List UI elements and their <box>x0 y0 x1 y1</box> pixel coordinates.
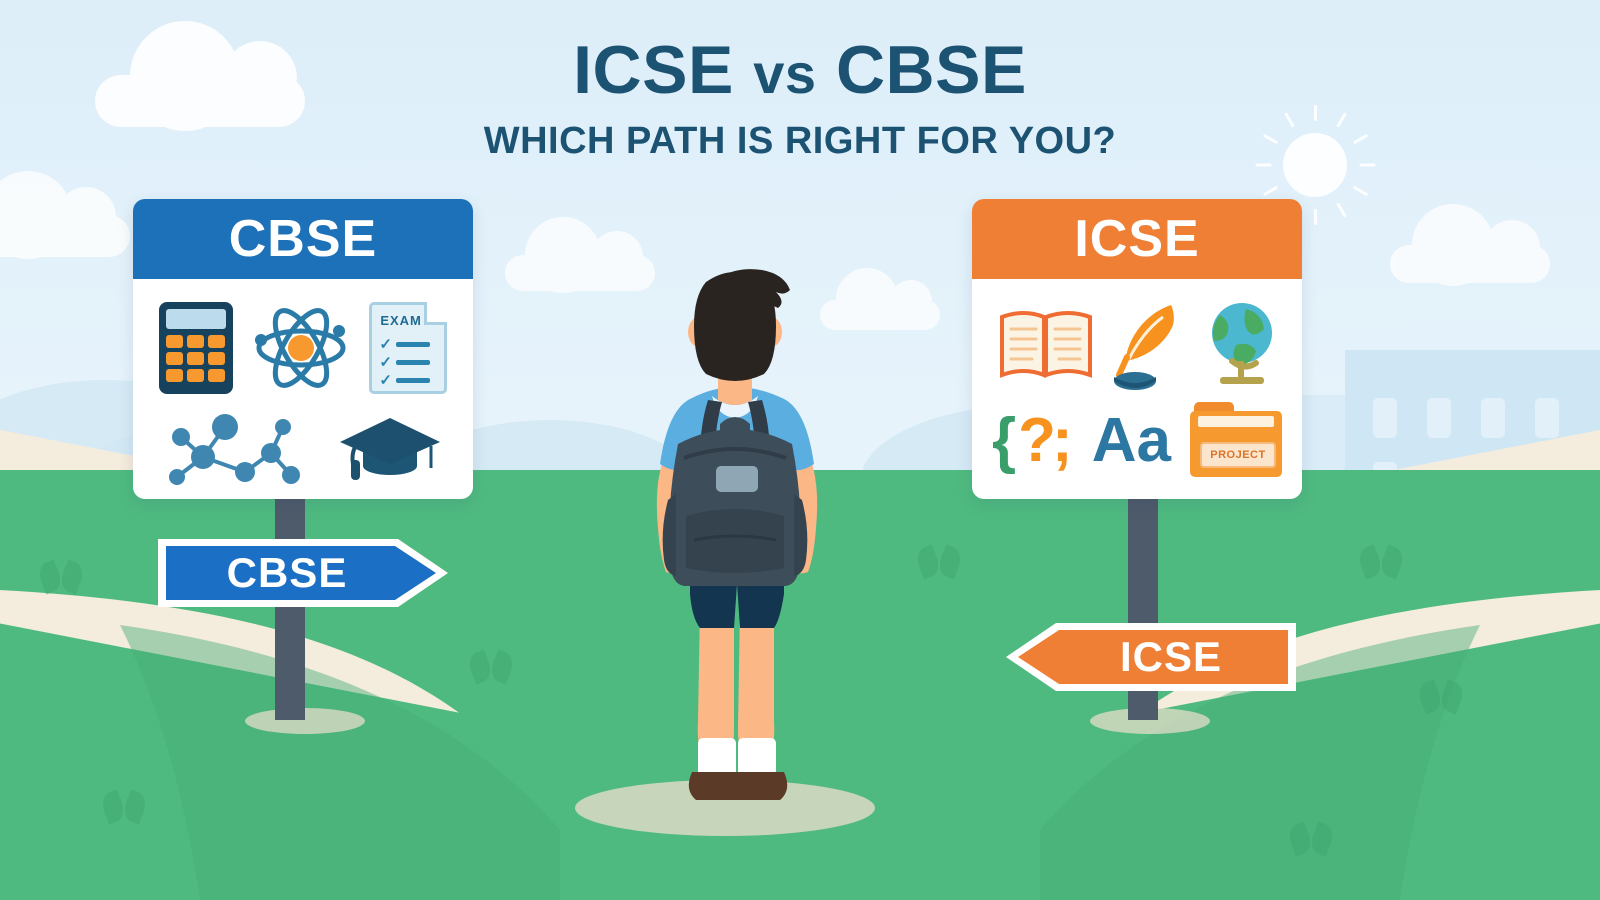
icse-board-title: ICSE <box>1074 213 1199 265</box>
globe-icon <box>1202 299 1276 391</box>
grass-sprout <box>470 650 516 684</box>
quill-inkwell-icon <box>1113 299 1183 391</box>
page-subtitle: WHICH PATH IS RIGHT FOR YOU? <box>0 122 1600 160</box>
cbse-board-icons: EXAM ✓ ✓ ✓ <box>133 279 473 499</box>
typography-aa-icon: Aa <box>1092 410 1171 472</box>
calculator-icon <box>159 302 233 394</box>
open-book-icon <box>998 307 1094 383</box>
cbse-post-shadow <box>245 708 365 734</box>
icse-board-icons: { ? ; Aa PROJECT <box>972 279 1302 499</box>
title-icse: ICSE <box>573 32 734 108</box>
grass-sprout <box>40 560 86 594</box>
graduation-cap-icon <box>335 410 445 488</box>
icse-arrow-label: ICSE <box>1120 633 1222 681</box>
title-vs: vs <box>753 42 816 105</box>
grass-sprout <box>1420 680 1466 714</box>
cbse-info-board[interactable]: CBSE <box>133 199 473 499</box>
exam-paper-label: EXAM <box>380 313 422 328</box>
page-title: ICSE vs CBSE <box>0 36 1600 104</box>
title-block: ICSE vs CBSE WHICH PATH IS RIGHT FOR YOU… <box>0 36 1600 160</box>
exam-paper-icon: EXAM ✓ ✓ ✓ <box>369 302 447 394</box>
grass-sprout <box>1360 545 1406 579</box>
cloud-5 <box>1390 245 1550 283</box>
cbse-board-header: CBSE <box>133 199 473 279</box>
brace-glyph: { <box>992 410 1016 472</box>
cbse-arrow-label: CBSE <box>227 549 348 597</box>
grass-sprout <box>1290 822 1336 856</box>
atom-icon <box>252 302 350 394</box>
project-folder-label: PROJECT <box>1210 449 1265 461</box>
grass-sprout <box>103 790 149 824</box>
semicolon-glyph: ; <box>1052 410 1073 472</box>
question-glyph: ? <box>1018 410 1056 472</box>
network-graph-icon <box>161 409 311 489</box>
cbse-board-title: CBSE <box>229 213 377 265</box>
icse-info-board[interactable]: ICSE <box>972 199 1302 499</box>
cloud-2 <box>0 215 130 257</box>
punctuation-icon: { ? ; <box>992 410 1073 472</box>
paper-fold <box>424 302 447 325</box>
icse-board-header: ICSE <box>972 199 1302 279</box>
icse-direction-sign[interactable]: ICSE <box>1000 615 1302 699</box>
title-cbse: CBSE <box>836 32 1027 108</box>
project-folder-icon: PROJECT <box>1190 402 1282 480</box>
illustration-canvas: CBSE <box>0 0 1600 900</box>
student-figure <box>620 248 850 838</box>
grass-sprout <box>918 545 964 579</box>
cbse-direction-sign[interactable]: CBSE <box>152 531 454 615</box>
